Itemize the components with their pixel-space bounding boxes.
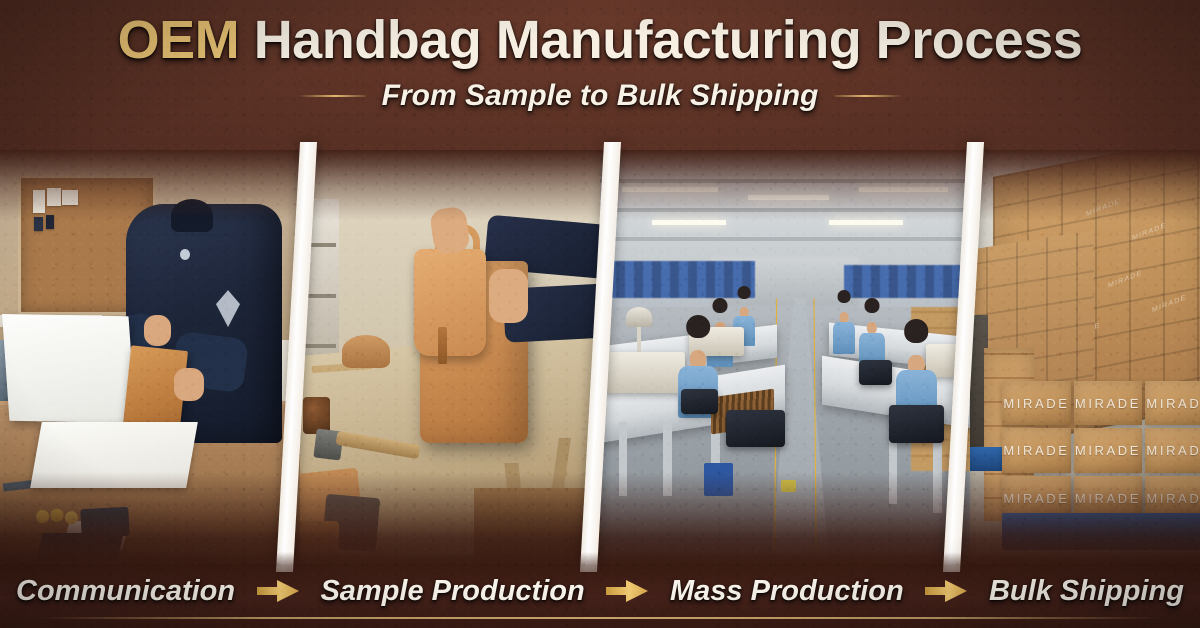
banner-header: OEM Handbag Manufacturing Process From S… xyxy=(0,0,1200,160)
carton-brand-mark: MIRADE xyxy=(1075,443,1141,458)
factory-worker xyxy=(859,298,885,364)
carton-brand-mark: MIRADE xyxy=(1146,443,1200,458)
arrow-right-icon xyxy=(923,578,969,604)
carton-brand-mark: MIRADE xyxy=(1003,491,1069,506)
carton-brand-mark: MIRADE xyxy=(1075,396,1141,411)
shipping-carton: MIRADE xyxy=(1074,428,1143,473)
finished-handbag xyxy=(726,410,785,447)
ceiling-light xyxy=(859,187,948,192)
page-subtitle: From Sample to Bulk Shipping xyxy=(382,79,819,113)
shipping-carton: MIRADE xyxy=(1145,428,1200,473)
sample-production-scene xyxy=(300,150,600,562)
designer-left-hand xyxy=(144,315,171,346)
leather-offcut xyxy=(342,335,390,368)
ceiling-light xyxy=(829,220,903,225)
pinned-note xyxy=(47,188,60,205)
panel-communication xyxy=(0,150,300,562)
mass-production-scene xyxy=(600,150,970,562)
designer-right-hand xyxy=(174,368,204,401)
divider-rule-left xyxy=(298,95,366,97)
caption-glow-underline xyxy=(40,617,1160,619)
carton-brand-mark: MIRADE xyxy=(1003,396,1069,411)
carton-brand-mark: MIRADE xyxy=(1075,491,1141,506)
pinned-note xyxy=(33,190,45,213)
panel-bulk-shipping: MIRADE MIRADE MIRADE MIRADE MIRADE MIRAD… xyxy=(970,150,1200,562)
subtitle-row: From Sample to Bulk Shipping xyxy=(0,79,1200,113)
pinned-swatch xyxy=(46,215,54,228)
step-label-mass-production: Mass Production xyxy=(670,575,904,608)
carton-brand-mark: MIRADE xyxy=(1146,491,1200,506)
finished-handbag xyxy=(681,389,718,414)
blue-pallet xyxy=(1002,513,1200,550)
step-label-communication: Communication xyxy=(16,575,235,608)
uniform-logo xyxy=(180,249,190,260)
factory-worker xyxy=(833,290,855,352)
floor-marking xyxy=(781,480,796,492)
blue-bin xyxy=(704,463,734,496)
bulk-shipping-scene: MIRADE MIRADE MIRADE MIRADE MIRADE MIRAD… xyxy=(970,150,1200,562)
ceiling-light xyxy=(652,220,726,225)
front-carton-grid: MIRADE MIRADE MIRADE MIRADE MIRADE MIRAD… xyxy=(1002,381,1200,521)
ceiling-light xyxy=(748,195,829,200)
oem-process-banner: MIRADE MIRADE MIRADE MIRADE MIRADE MIRAD… xyxy=(0,0,1200,628)
divider-rule-right xyxy=(834,95,902,97)
arrow-right-icon xyxy=(604,578,650,604)
pinned-swatch xyxy=(34,217,43,232)
task-lamp xyxy=(626,307,652,328)
craftsman-hand-side xyxy=(489,269,528,323)
factory-worker-foreground xyxy=(896,319,937,418)
carton-brand-mark: MIRADE xyxy=(1003,443,1069,458)
factory-ceiling xyxy=(600,150,970,274)
communication-scene xyxy=(0,150,300,562)
ceiling-light xyxy=(622,187,718,192)
bag-clasp xyxy=(438,327,447,364)
pinned-note xyxy=(62,190,78,205)
title-highlight: OEM xyxy=(118,10,240,70)
shipping-carton: MIRADE xyxy=(1074,381,1143,426)
shipping-carton: MIRADE xyxy=(1002,381,1071,426)
finished-handbag xyxy=(859,360,892,385)
blue-crate-stack xyxy=(844,265,970,298)
arrow-right-icon xyxy=(255,578,301,604)
brass-hardware xyxy=(33,504,81,529)
panel-sample-production xyxy=(300,150,600,562)
page-title: OEM Handbag Manufacturing Process xyxy=(0,11,1200,69)
finished-handbag xyxy=(889,405,945,442)
shipping-carton: MIRADE xyxy=(1145,381,1200,426)
blueprint-sheet xyxy=(2,314,136,423)
carton-brand-mark: MIRADE xyxy=(1146,396,1200,411)
sewing-machine xyxy=(604,352,685,393)
step-label-bulk-shipping: Bulk Shipping xyxy=(989,575,1184,608)
bag-flap xyxy=(414,249,486,356)
title-rest: Handbag Manufacturing Process xyxy=(254,10,1083,70)
shipping-carton: MIRADE xyxy=(1002,428,1071,473)
step-label-sample-production: Sample Production xyxy=(320,575,584,608)
panel-mass-production xyxy=(600,150,970,562)
designer-collar xyxy=(171,199,213,232)
blueprint-on-bench xyxy=(30,422,198,488)
